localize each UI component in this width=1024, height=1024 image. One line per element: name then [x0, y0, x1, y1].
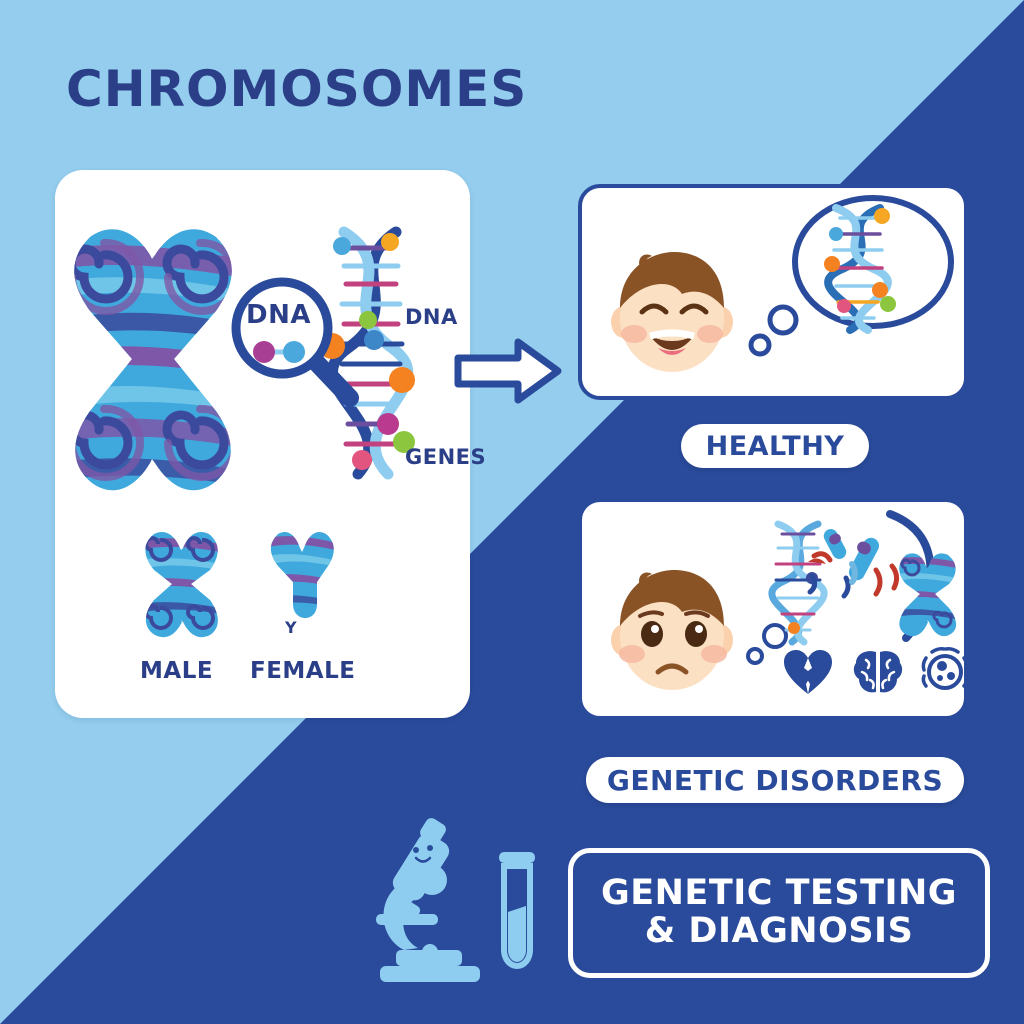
- infographic-canvas: CHROMOSOMES: [0, 0, 1024, 1024]
- dna-label: DNA: [405, 305, 458, 329]
- x-chromosome-icon: [895, 550, 957, 638]
- testing-line-2: & DIAGNOSIS: [645, 913, 914, 951]
- test-tube-icon: [495, 850, 539, 980]
- genetic-testing-box: GENETIC TESTING & DIAGNOSIS: [568, 848, 990, 978]
- healthy-dna-helix-icon: [812, 204, 908, 334]
- magnifier-label: DNA: [246, 300, 311, 330]
- broken-heart-icon: [782, 648, 834, 696]
- page-title: CHROMOSOMES: [66, 60, 527, 118]
- y-chromosome-label: Y: [285, 618, 297, 637]
- happy-child-face-icon: [602, 250, 752, 380]
- microscope-icon: [370, 818, 490, 988]
- abnormal-cell-icon: [918, 646, 972, 698]
- male-label: MALE: [140, 658, 213, 684]
- x-chromosome-small-icon: [140, 528, 222, 640]
- genetic-disorders-badge: GENETIC DISORDERS: [586, 757, 964, 803]
- healthy-badge: HEALTHY: [681, 424, 869, 468]
- arrow-right-icon: [452, 336, 564, 406]
- brain-icon: [852, 648, 904, 696]
- female-label: FEMALE: [250, 658, 355, 684]
- magnifying-glass-icon: [228, 278, 358, 403]
- testing-line-1: GENETIC TESTING: [601, 875, 957, 913]
- y-chromosome-small-icon: [268, 528, 334, 618]
- genes-label: GENES: [405, 445, 486, 469]
- sad-child-face-icon: [602, 568, 752, 698]
- x-chromosome-icon: [60, 225, 245, 495]
